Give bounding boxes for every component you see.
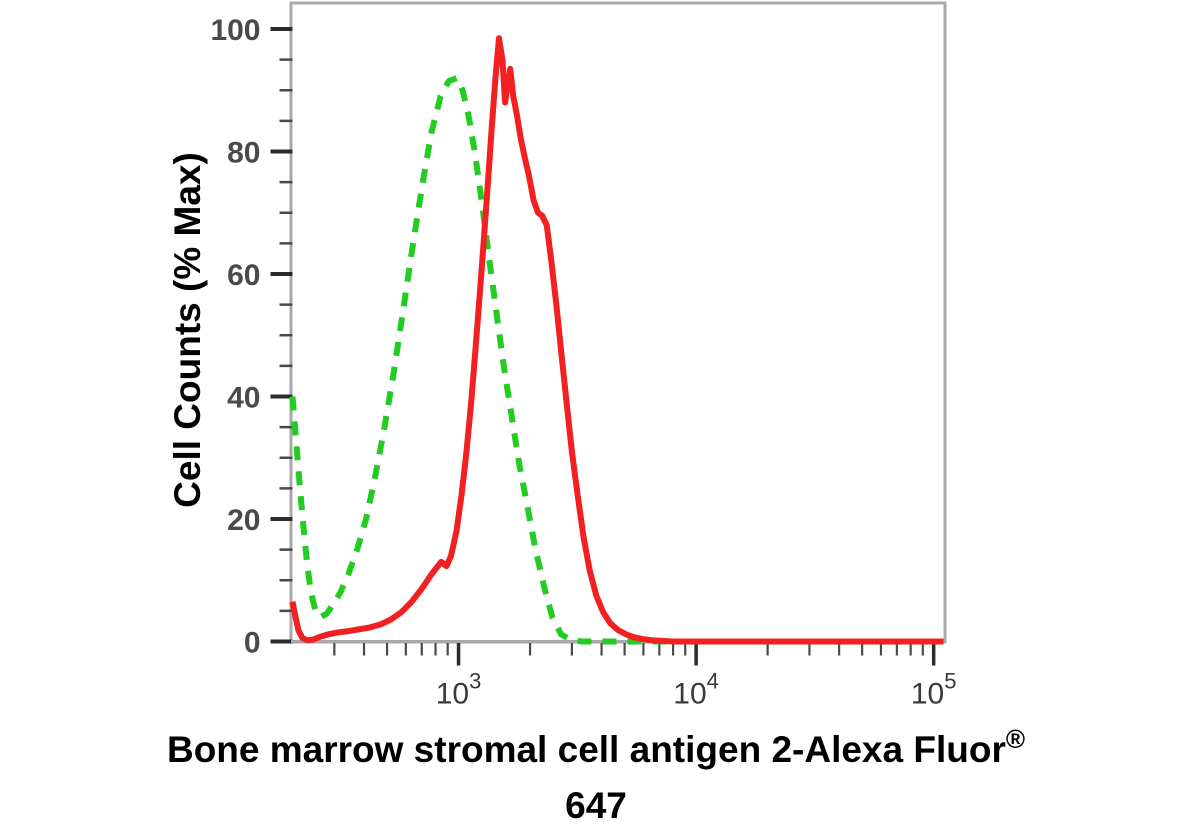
x-axis-title-superscript: ®: [1006, 724, 1025, 754]
x-tick-label: 103: [436, 669, 482, 711]
y-tick-label: 20: [227, 504, 260, 537]
y-tick-label: 100: [210, 14, 260, 47]
y-tick-label: 40: [227, 382, 260, 415]
x-axis-title: Bone marrow stromal cell antigen 2-Alexa…: [167, 724, 1025, 770]
y-tick-label: 60: [227, 259, 260, 292]
y-tick-label: 80: [227, 137, 260, 170]
plot-area-frame: [291, 3, 945, 642]
x-axis-title-main: Bone marrow stromal cell antigen 2-Alexa…: [167, 729, 1006, 770]
flow-cytometry-histogram: 020406080100 103104105 Cell Counts (% Ma…: [0, 0, 1194, 834]
x-axis-ticks: [334, 642, 933, 666]
y-axis-ticks: [271, 29, 293, 642]
y-axis-title: Cell Counts (% Max): [167, 152, 208, 508]
x-tick-label: 104: [673, 669, 719, 711]
x-axis-tick-labels: 103104105: [436, 669, 957, 711]
x-tick-label: 105: [911, 669, 957, 711]
y-tick-label: 0: [244, 627, 261, 660]
x-axis-title-line2: 647: [565, 785, 627, 826]
y-axis-tick-labels: 020406080100: [210, 14, 260, 660]
